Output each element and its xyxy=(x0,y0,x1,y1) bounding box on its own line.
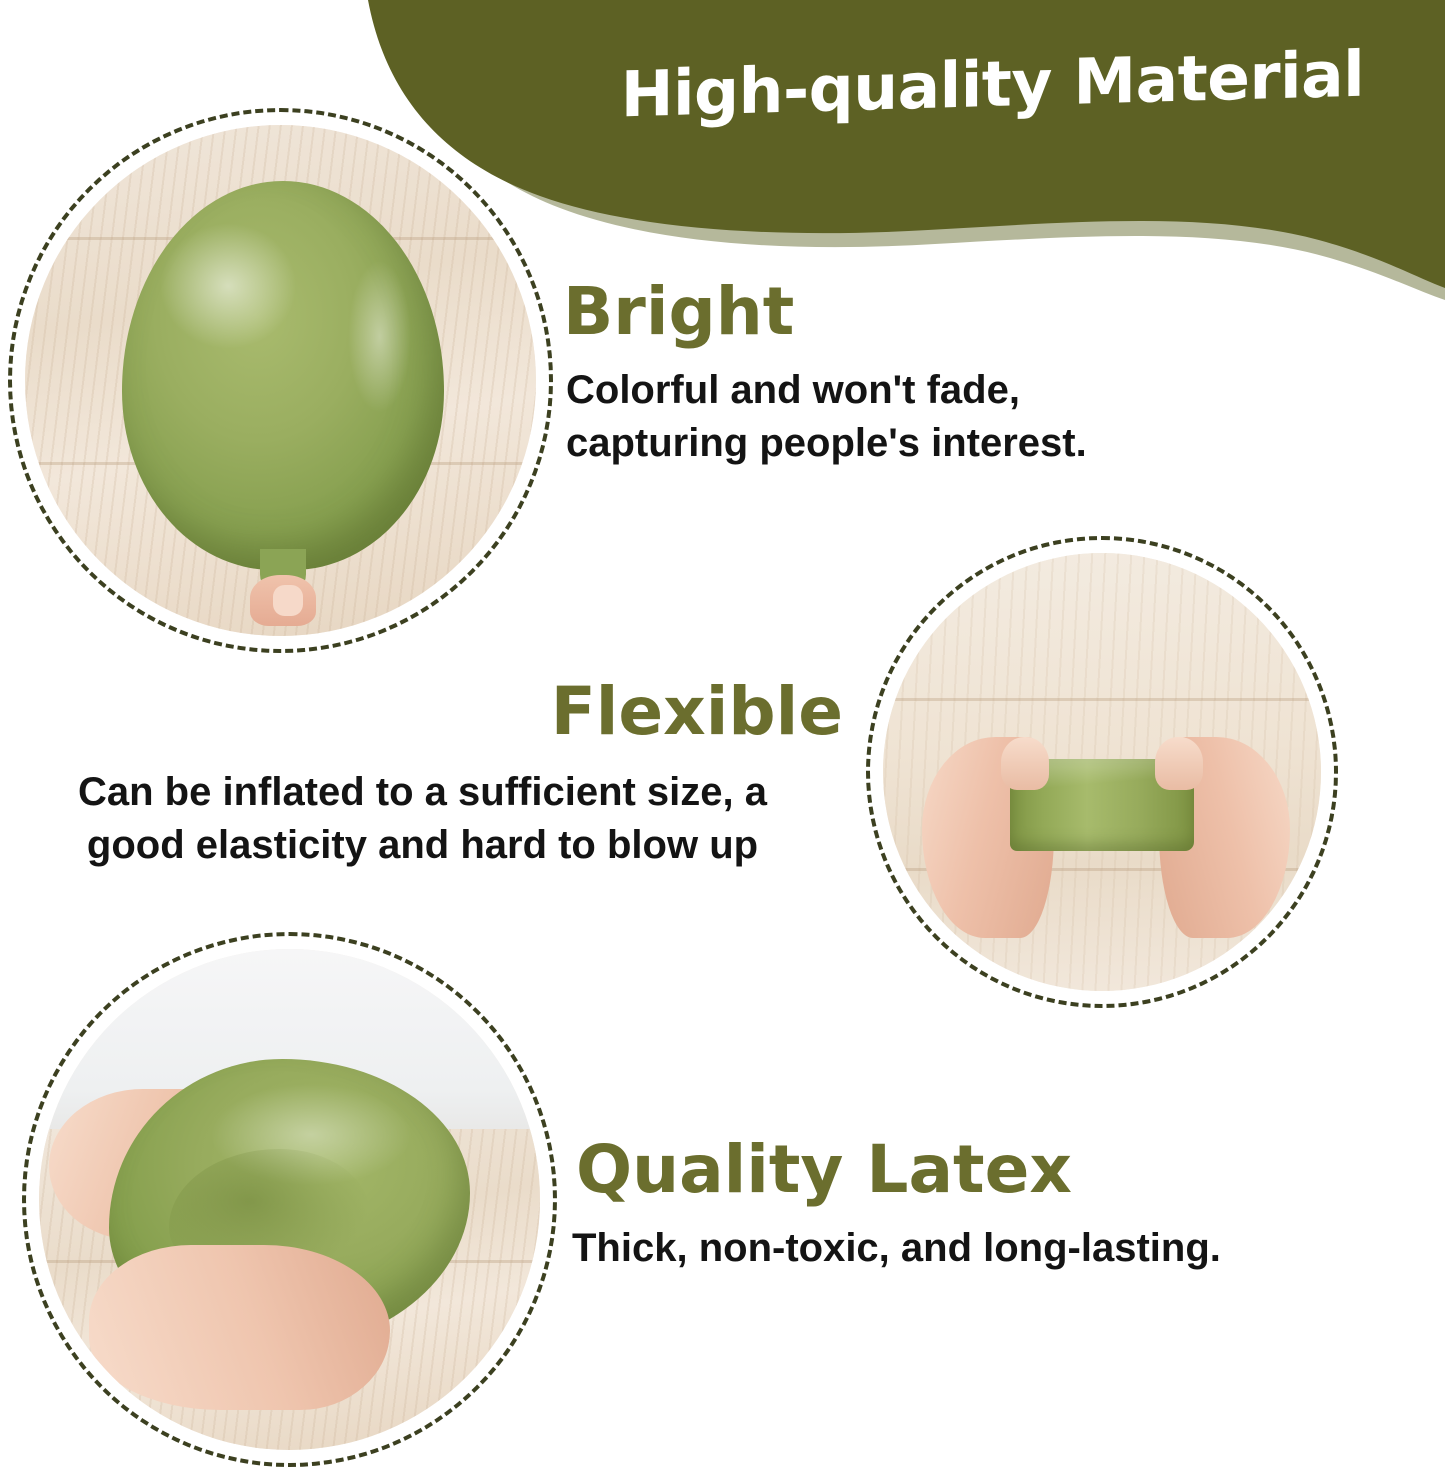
photo-circle-bright xyxy=(8,108,553,653)
feature-body-line: capturing people's interest. xyxy=(566,417,1306,470)
feature-body-line: good elasticity and hard to blow up xyxy=(0,819,845,872)
fingernail-graphic xyxy=(273,585,304,616)
photo-bright xyxy=(25,125,536,636)
feature-body-line: Colorful and won't fade, xyxy=(566,364,1306,417)
photo-circle-flexible xyxy=(866,536,1338,1008)
feature-heading-bright: Bright xyxy=(563,276,794,348)
infographic-canvas: High-quality Material Bright Colorful an… xyxy=(0,0,1445,1467)
feature-body-line: Thick, non-toxic, and long-lasting. xyxy=(572,1222,1372,1275)
feature-body-bright: Colorful and won't fade, capturing peopl… xyxy=(566,364,1306,470)
wood-seam xyxy=(883,698,1321,701)
left-thumb-graphic xyxy=(1001,737,1049,790)
photo-quality-latex xyxy=(39,949,540,1450)
photo-circle-quality-latex xyxy=(22,932,557,1467)
feature-heading-flexible: Flexible xyxy=(0,676,843,748)
feature-body-flexible: Can be inflated to a sufficient size, a … xyxy=(0,766,845,872)
feature-body-line: Can be inflated to a sufficient size, a xyxy=(0,766,845,819)
feature-heading-quality-latex: Quality Latex xyxy=(576,1134,1072,1206)
lower-hand-graphic xyxy=(89,1245,390,1410)
right-thumb-graphic xyxy=(1155,737,1203,790)
feature-body-quality-latex: Thick, non-toxic, and long-lasting. xyxy=(572,1222,1372,1275)
photo-flexible xyxy=(883,553,1321,991)
